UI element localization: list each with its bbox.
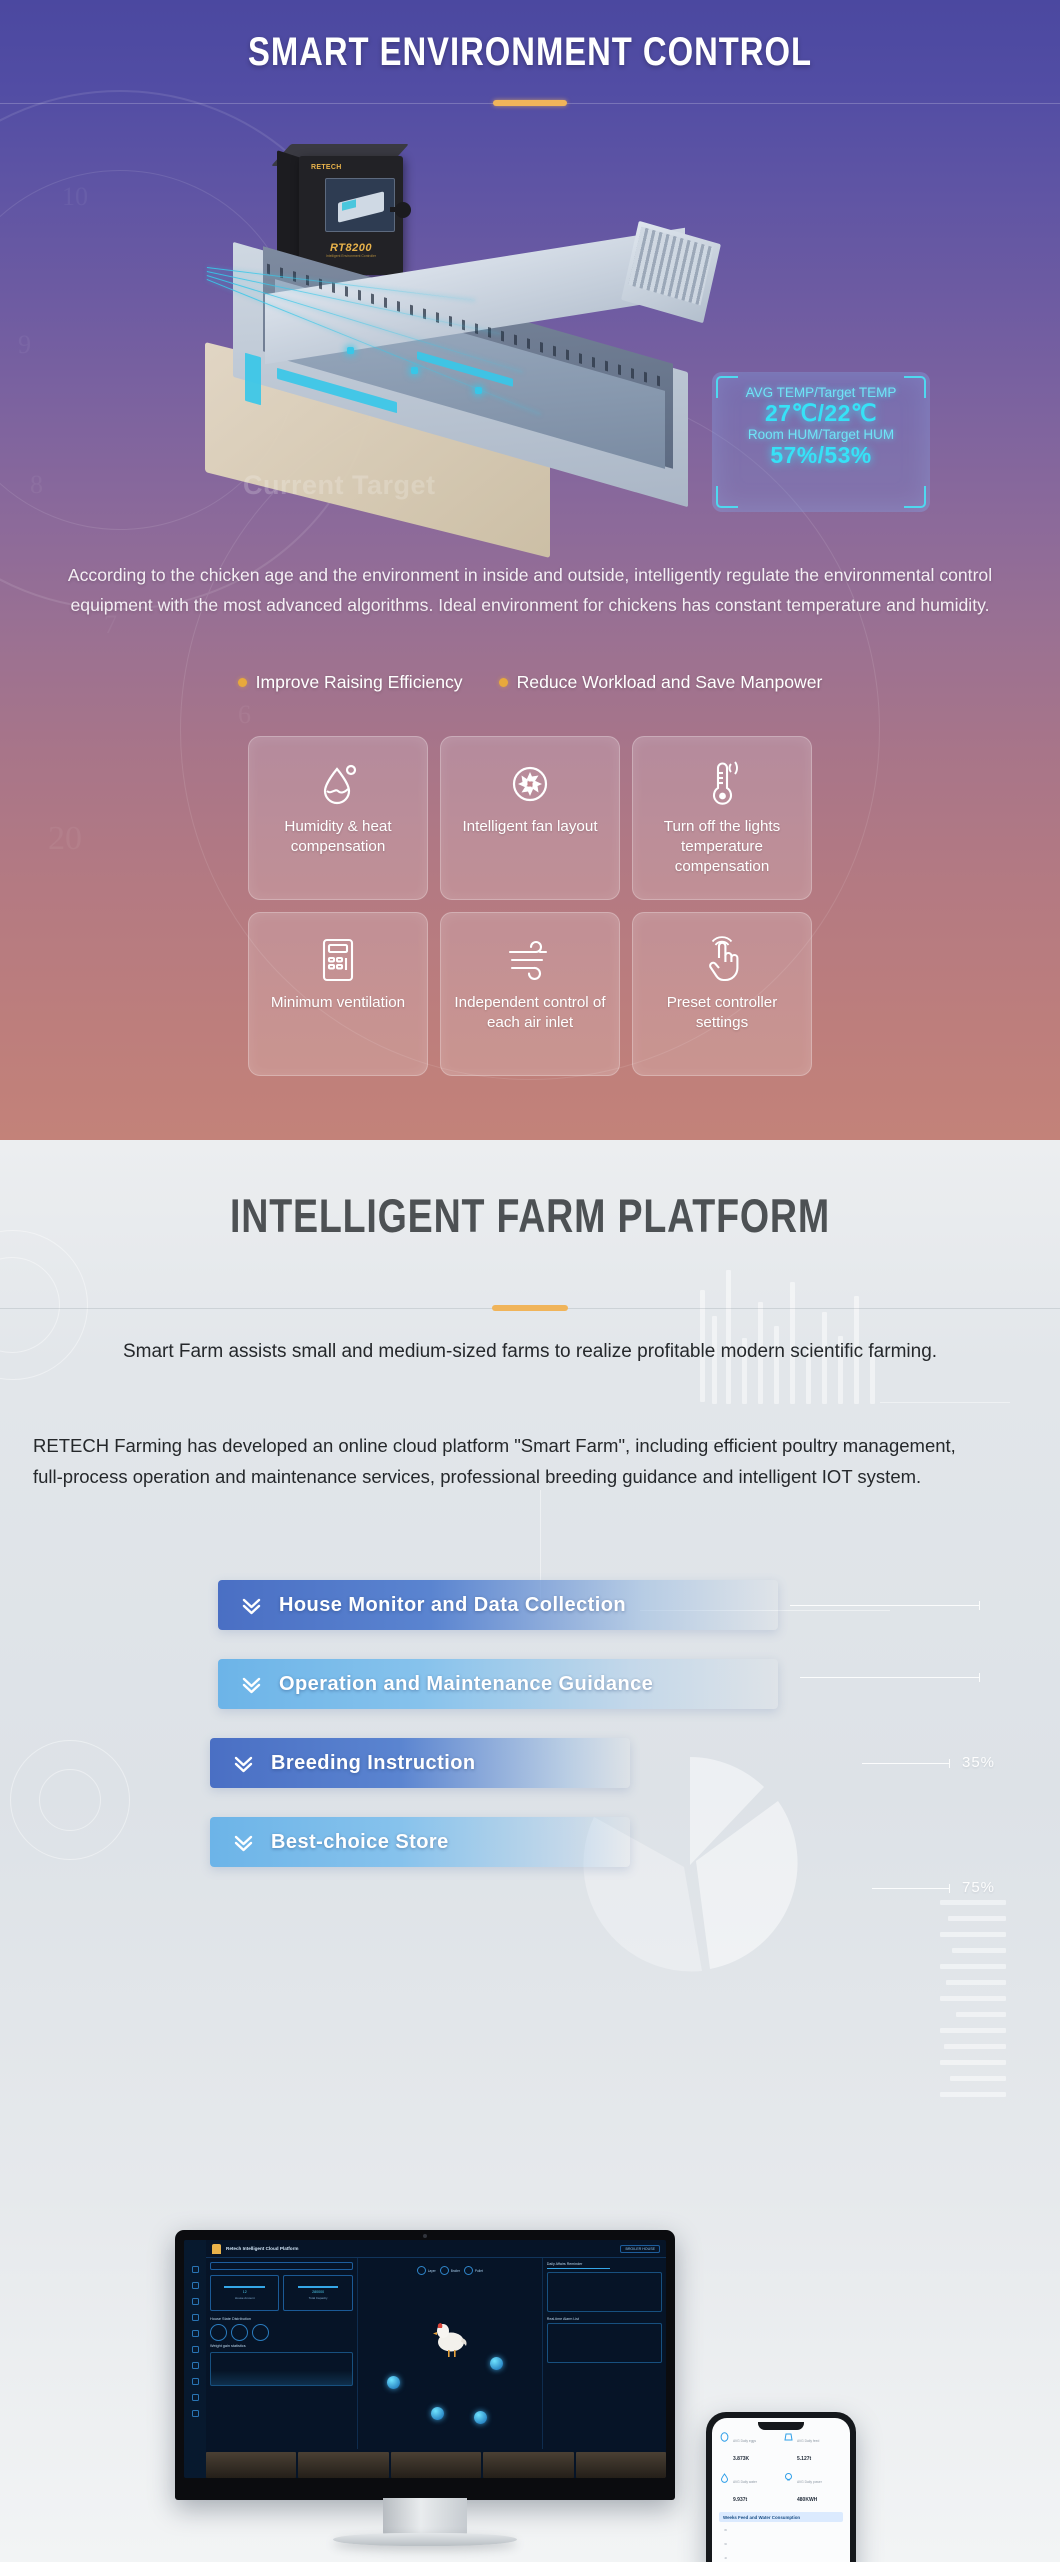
feature-card-label: Turn off the lights temperature compensa… (633, 817, 811, 877)
water-drop-icon (719, 2470, 730, 2481)
leader-line (790, 1605, 980, 1606)
phone-notch (758, 2422, 804, 2430)
kpi-label: AVG Daily eggs (733, 2439, 756, 2443)
kpi-total-capacity: 280000 Total Capacity (283, 2275, 352, 2311)
feature-bar-house-monitor[interactable]: House Monitor and Data Collection (218, 1580, 778, 1630)
section2-body: RETECH Farming has developed an online c… (33, 1430, 973, 1492)
room-hum-label: Room HUM/Target HUM (712, 427, 930, 442)
feature-card-air-inlet-control[interactable]: Independent control of each air inlet (440, 912, 620, 1076)
feature-bar-row: Operation and Maintenance Guidance (0, 1659, 1060, 1726)
bird-type-row: Layer Broiler Pullet (362, 2266, 538, 2275)
pullet-icon (464, 2266, 473, 2275)
benefit-item: Reduce Workload and Save Manpower (499, 672, 823, 693)
feature-bar-label: Breeding Instruction (271, 1752, 476, 1775)
feature-bar-list: House Monitor and Data Collection Operat… (0, 1580, 1060, 1896)
kpi-avg-daily-water: AVG Daily water 9.937t (719, 2470, 779, 2506)
weight-gain-chart (210, 2352, 353, 2386)
alarm-list-title: Real-time Alarm List (547, 2317, 662, 2321)
alarm-list-panel (547, 2323, 662, 2363)
fan-icon (508, 759, 552, 809)
double-chevron-down-icon (232, 1831, 255, 1854)
mobile-phone-mockup: AVG Daily eggs 3.873K AVG Daily feed 5.1… (706, 2412, 856, 2562)
broiler-icon (440, 2266, 449, 2275)
feature-bar-row: Best-choice Store 75% (0, 1817, 1060, 1884)
feature-card-fan-layout[interactable]: Intelligent fan layout (440, 736, 620, 900)
bird-type-label: Broiler (451, 2269, 460, 2273)
farm-select[interactable] (210, 2262, 353, 2270)
page-title: INTELLIGENT FARM PLATFORM (106, 1188, 954, 1243)
benefit-label: Improve Raising Efficiency (256, 672, 463, 693)
mobile-kpi-grid: AVG Daily eggs 3.873K AVG Daily feed 5.1… (719, 2429, 843, 2506)
platform-logo (212, 2244, 221, 2254)
double-chevron-down-icon (240, 1673, 263, 1696)
benefit-label: Reduce Workload and Save Manpower (517, 672, 823, 693)
feature-card-label: Humidity & heat compensation (249, 817, 427, 857)
kpi-avg-daily-power: AVG Daily power 480KWH (783, 2470, 843, 2506)
kpi-label: AVG Daily feed (797, 2439, 819, 2443)
kpi-avg-daily-eggs: AVG Daily eggs 3.873K (719, 2429, 779, 2465)
room-hum-value: 57%/53% (712, 442, 930, 469)
house-chip[interactable]: BROILER HOUSE (620, 2245, 660, 2253)
layer-icon (417, 2266, 426, 2275)
dashboard-title: Retech Intelligent Cloud Platform (226, 2246, 298, 2251)
monitor-stand-base (333, 2533, 517, 2546)
weight-stats-title: Weight gain statistics (210, 2344, 353, 2348)
monitor-stand-neck (383, 2498, 467, 2538)
wind-icon (506, 935, 554, 985)
callout-percentage-35: 35% (962, 1754, 995, 1771)
kpi-value: 3.873K (733, 2456, 749, 2462)
page-title: SMART ENVIRONMENT CONTROL (95, 30, 964, 75)
calculator-icon (319, 935, 357, 985)
egg-icon (719, 2429, 730, 2440)
feature-card-humidity-heat[interactable]: Humidity & heat compensation (248, 736, 428, 900)
kpi-label: AVG Daily water (733, 2480, 757, 2484)
dashboard-center-column: Layer Broiler Pullet (358, 2258, 542, 2449)
feature-bar-label: Operation and Maintenance Guidance (279, 1673, 653, 1696)
benefit-item: Improve Raising Efficiency (238, 672, 463, 693)
feature-bar-label: House Monitor and Data Collection (279, 1594, 626, 1617)
feature-card-grid: Humidity & heat compensation (248, 736, 812, 1076)
dashboard-sidebar[interactable] (184, 2240, 206, 2478)
kpi-value: 480KWH (797, 2497, 817, 2503)
feed-bag-icon (783, 2429, 794, 2440)
kpi-row: 12 House Amount 280000 Total Capacity (210, 2275, 353, 2311)
daily-affairs-title: Daily Affairs Reminder (547, 2262, 662, 2266)
dashboard-left-column: 12 House Amount 280000 Total Capacity (206, 2258, 358, 2449)
bird-type-label: Pullet (475, 2269, 483, 2273)
thermometer-signal-icon (701, 759, 743, 809)
feature-bar-row: Breeding Instruction 35% (0, 1738, 1060, 1805)
feature-card-label: Preset controller settings (633, 993, 811, 1033)
device-mockups: Retech Intelligent Cloud Platform BROILE… (0, 2230, 1060, 2562)
feature-bar-operation-maintenance[interactable]: Operation and Maintenance Guidance (218, 1659, 778, 1709)
chicken-illustration (432, 2316, 468, 2360)
y-axis-ticks: 806040200 (719, 2529, 727, 2562)
cloud-platform-dashboard: Retech Intelligent Cloud Platform BROILE… (184, 2240, 666, 2478)
leader-line (872, 1888, 950, 1889)
double-chevron-down-icon (232, 1752, 255, 1775)
humidity-drop-icon (318, 759, 358, 809)
mobile-app-screen: AVG Daily eggs 3.873K AVG Daily feed 5.1… (712, 2418, 850, 2562)
feed-water-chart-title: Weeks Feed and Water Consumption (719, 2512, 843, 2522)
feature-card-lights-temp-comp[interactable]: Turn off the lights temperature compensa… (632, 736, 812, 900)
feature-bar-best-choice-store[interactable]: Best-choice Store (210, 1817, 630, 1867)
feature-card-minimum-ventilation[interactable]: Minimum ventilation (248, 912, 428, 1076)
kpi-avg-daily-feed: AVG Daily feed 5.127t (783, 2429, 843, 2465)
double-chevron-down-icon (240, 1594, 263, 1617)
daily-affairs-panel (547, 2272, 662, 2312)
environment-readout-panel: AVG TEMP/Target TEMP 27℃/22℃ Room HUM/Ta… (712, 372, 930, 512)
section2-lead: Smart Farm assists small and medium-size… (0, 1336, 1060, 1367)
kpi-label: House Amount (235, 2296, 255, 2300)
feed-water-bar-chart: 806040200 (719, 2525, 843, 2562)
bird-type-label: Layer (428, 2269, 436, 2273)
benefit-bullets: Improve Raising Efficiency Reduce Worklo… (0, 672, 1060, 693)
bulb-icon (783, 2470, 794, 2481)
title-accent-bar (493, 100, 567, 106)
leader-line (800, 1677, 980, 1678)
controller-screen (325, 178, 395, 232)
webcam-icon (423, 2234, 427, 2238)
feature-card-preset-settings[interactable]: Preset controller settings (632, 912, 812, 1076)
avg-temp-label: AVG TEMP/Target TEMP (712, 385, 930, 400)
intelligent-farm-platform-section: INTELLIGENT FARM PLATFORM Smart Farm ass… (0, 1140, 1060, 2562)
kpi-label: Total Capacity (309, 2296, 328, 2300)
gauge-row (210, 2324, 353, 2341)
kpi-label: AVG Daily power (797, 2480, 822, 2484)
kpi-house-amount: 12 House Amount (210, 2275, 279, 2311)
kpi-value: 280000 (312, 2290, 324, 2294)
feature-bar-breeding-instruction[interactable]: Breeding Instruction (210, 1738, 630, 1788)
desktop-monitor-mockup: Retech Intelligent Cloud Platform BROILE… (175, 2230, 675, 2500)
feature-card-label: Intelligent fan layout (452, 817, 607, 837)
feature-card-label: Independent control of each air inlet (441, 993, 619, 1033)
feature-card-label: Minimum ventilation (261, 993, 415, 1013)
dashboard-header: Retech Intelligent Cloud Platform BROILE… (206, 2240, 666, 2258)
controller-knob (395, 202, 411, 218)
callout-percentage-75: 75% (962, 1879, 995, 1896)
kpi-value: 12 (243, 2290, 247, 2294)
bullet-dot-icon (238, 678, 247, 687)
avg-temp-value: 27℃/22℃ (712, 400, 930, 427)
section1-paragraph: According to the chicken age and the env… (0, 560, 1060, 620)
camera-thumbnail-row[interactable] (206, 2452, 666, 2478)
feature-bar-row: House Monitor and Data Collection (0, 1580, 1060, 1647)
house-state-title: House State Distribution (210, 2317, 353, 2321)
retech-logo: RETECH (311, 164, 363, 176)
feature-bar-label: Best-choice Store (271, 1831, 449, 1854)
leader-line (862, 1763, 950, 1764)
bullet-dot-icon (499, 678, 508, 687)
touch-hand-icon (702, 935, 742, 985)
smart-environment-control-section: 10 9 8 7 6 20 SMART ENVIRONMENT CONTROL … (0, 0, 1060, 1140)
dashboard-right-column: Daily Affairs Reminder Real-time Alarm L… (542, 2258, 666, 2449)
bar-series (728, 2531, 840, 2562)
kpi-value: 5.127t (797, 2456, 811, 2462)
title-accent-bar (492, 1305, 568, 1311)
watermark-text: Current Target (243, 470, 436, 501)
kpi-value: 9.937t (733, 2497, 747, 2503)
